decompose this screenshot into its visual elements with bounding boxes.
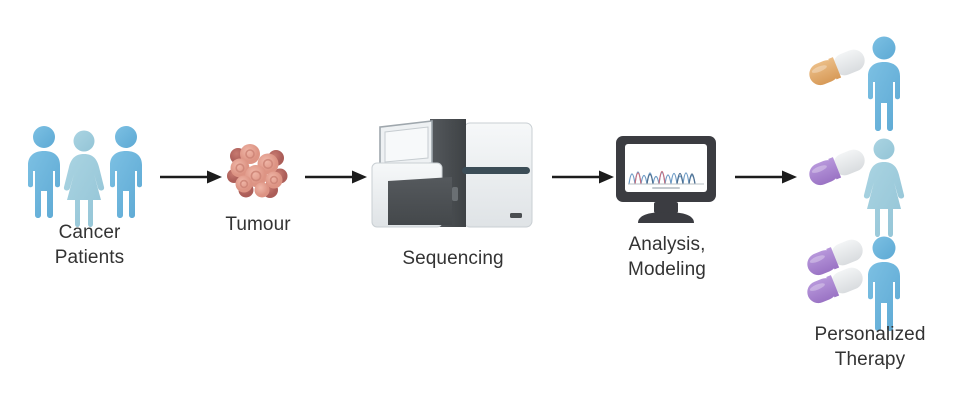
stage-analysis-modeling [614,134,718,224]
patient-group-icon [22,122,152,222]
sequencer-open-lid [380,121,432,167]
pill-orange-white [806,46,868,88]
sequencer-handle-bar [462,167,530,174]
arrow-analysis-to-therapy [735,168,797,186]
sequencer-drawer [388,177,452,225]
therapy-row-1 [806,37,900,132]
patient-figure-male-1 [28,126,60,218]
patient-figure-male-2 [110,126,142,218]
sequencer-indicator-light [510,213,522,218]
arrow-tumour-to-sequencing [305,168,367,186]
stage-sequencing [368,115,536,235]
sequencer-right-panel [464,123,532,227]
therapy-figure-male-1 [868,37,900,132]
label-sequencing: Sequencing [382,246,524,271]
patient-with-pill-icon [800,28,940,318]
label-tumour: Tumour [196,212,320,237]
sequencer-latch [452,187,458,201]
pill-purple-white-1 [806,146,868,188]
monitor-screen [625,144,707,192]
therapy-row-2 [806,139,904,238]
tumour-cell-cluster-icon [224,140,292,202]
stage-cancer-patients [22,122,152,222]
label-personalized-therapy: Personalized Therapy [790,322,950,372]
patient-figure-female-1 [64,131,104,228]
monitor-neck [654,202,678,213]
dna-sequencer-machine-icon [368,115,536,235]
therapy-figure-female-1 [864,139,904,238]
stage-tumour [224,140,292,202]
therapy-figure-male-2 [868,237,900,332]
therapy-row-3 [804,236,900,331]
computer-monitor-icon [614,134,718,224]
arrow-patients-to-tumour [160,168,222,186]
stage-personalized-therapy [800,28,940,318]
arrow-sequencing-to-analysis [552,168,614,186]
label-cancer-patients: Cancer Patients [17,220,162,270]
workflow-diagram: Cancer Patients [0,0,960,401]
label-analysis-modeling: Analysis, Modeling [597,232,737,282]
chromatogram-caption [652,187,680,189]
monitor-base [638,212,694,223]
